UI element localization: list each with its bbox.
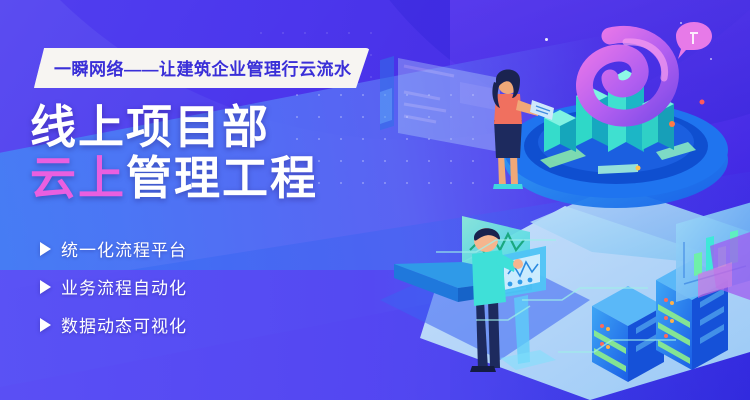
triangle-right-icon: [40, 318, 51, 332]
isometric-illustration: [380, 0, 750, 400]
left-tower-blocks: [380, 56, 394, 132]
headline-accent-text: 云上: [30, 152, 126, 204]
bullet-label: 统一化流程平台: [61, 236, 187, 261]
tagline-bubble: 一瞬网络——让建筑企业管理行云流水: [34, 48, 370, 88]
bullet-label: 业务流程自动化: [61, 274, 187, 299]
speech-bubble: [676, 22, 712, 59]
platform-indicator-dot: [700, 100, 705, 105]
bullet-item: 业务流程自动化: [40, 274, 187, 299]
bubble-tail: [48, 87, 64, 97]
triangle-right-icon: [40, 242, 51, 256]
server-rack: [592, 286, 664, 382]
platform-indicator-dot: [636, 166, 641, 171]
bullet-item: 统一化流程平台: [40, 236, 187, 261]
promo-banner: 一瞬网络——让建筑企业管理行云流水 线上项目部 云上管理工程 统一化流程平台 业…: [0, 0, 750, 400]
headline-line-2: 云上管理工程: [30, 155, 318, 202]
dashboard-window-panel: [398, 58, 500, 152]
feature-bullet-list: 统一化流程平台 业务流程自动化 数据动态可视化: [40, 236, 187, 350]
headline: 线上项目部 云上管理工程: [30, 104, 318, 202]
bubble-left-edge: [28, 48, 40, 88]
headline-line-2-rest: 管理工程: [126, 152, 318, 204]
bullet-item: 数据动态可视化: [40, 312, 187, 337]
copy-block: 一瞬网络——让建筑企业管理行云流水 线上项目部 云上管理工程 统一化流程平台 业…: [0, 0, 430, 400]
bullet-label: 数据动态可视化: [61, 312, 187, 337]
tagline-text: 一瞬网络——让建筑企业管理行云流水: [54, 60, 352, 79]
platform-indicator-dot: [669, 121, 675, 127]
triangle-right-icon: [40, 280, 51, 294]
headline-line-1: 线上项目部: [30, 104, 318, 151]
